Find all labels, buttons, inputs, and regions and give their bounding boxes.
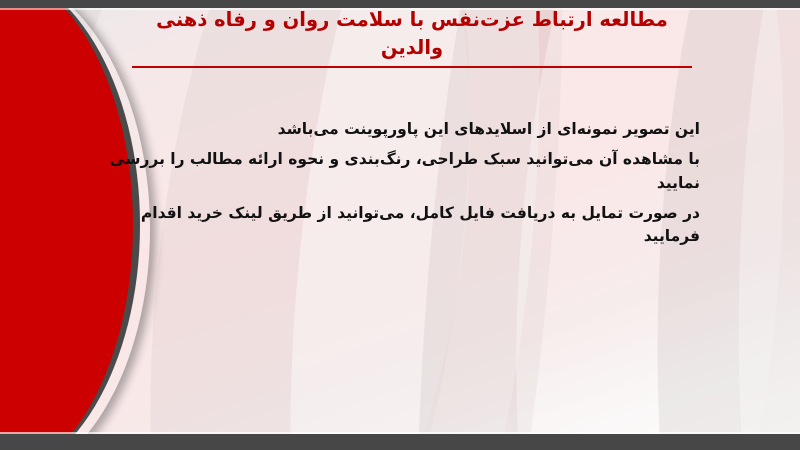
slide-title-block: مطالعه ارتباط عزت‌نفس با سلامت روان و رف…	[132, 6, 692, 68]
slide-body-block: این تصویر نمونه‌ای از اسلایدهای این پاور…	[100, 118, 700, 248]
top-band	[0, 0, 800, 8]
bottom-bevel-line	[0, 432, 800, 434]
bottom-band	[0, 434, 800, 450]
body-line-2: با مشاهده آن می‌توانید سبک طراحی، رنگ‌بن…	[100, 148, 700, 195]
top-bevel-line	[0, 8, 800, 10]
presentation-slide: مطالعه ارتباط عزت‌نفس با سلامت روان و رف…	[0, 0, 800, 450]
body-line-1: این تصویر نمونه‌ای از اسلایدهای این پاور…	[100, 118, 700, 141]
slide-title: مطالعه ارتباط عزت‌نفس با سلامت روان و رف…	[132, 6, 692, 61]
background-swoosh-stripe	[724, 7, 800, 435]
title-underline-rule	[132, 66, 692, 68]
body-line-3: در صورت تمایل به دریافت فایل کامل، می‌تو…	[100, 202, 700, 249]
